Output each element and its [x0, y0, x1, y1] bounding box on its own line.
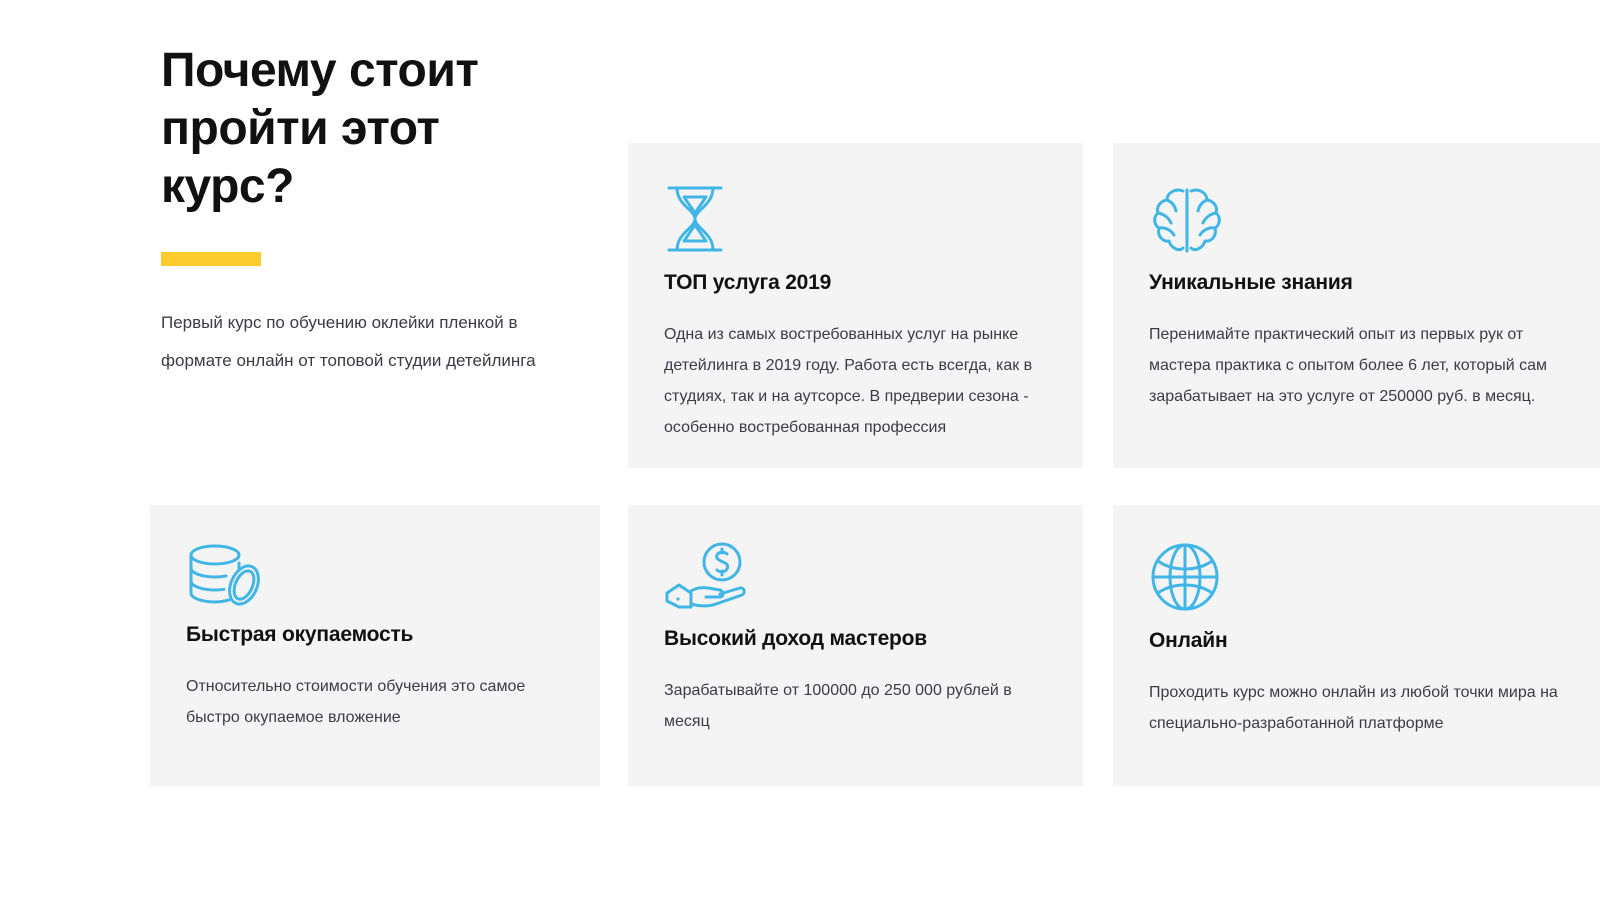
card-description: Перенимайте практический опыт из первых …	[1149, 319, 1570, 412]
card-description: Одна из самых востребованных услуг на ры…	[664, 319, 1047, 443]
card-description: Зарабатывайте от 100000 до 250 000 рубле…	[664, 675, 1047, 737]
globe-icon	[1149, 541, 1570, 613]
benefit-card-high-income: Высокий доход мастеров Зарабатывайте от …	[628, 505, 1083, 786]
hand-with-coin-icon	[664, 541, 1047, 611]
hourglass-icon	[664, 183, 1047, 255]
card-title: Высокий доход мастеров	[664, 625, 1047, 653]
intro-block: Почему стоит пройти этот курс? Первый ку…	[161, 42, 581, 397]
benefit-card-unique-knowledge: Уникальные знания Перенимайте практическ…	[1113, 143, 1600, 468]
intro-description: Первый курс по обучению оклейки пленкой …	[161, 304, 561, 380]
card-title: Онлайн	[1149, 627, 1570, 655]
card-description: Относительно стоимости обучения это само…	[186, 671, 564, 733]
card-title: ТОП услуга 2019	[664, 269, 1047, 297]
card-title: Быстрая окупаемость	[186, 621, 564, 649]
benefit-card-online: Онлайн Проходить курс можно онлайн из лю…	[1113, 505, 1600, 786]
benefit-card-top-service: ТОП услуга 2019 Одна из самых востребова…	[628, 143, 1083, 468]
brain-icon	[1149, 185, 1570, 255]
coins-icon	[186, 541, 564, 607]
benefit-card-fast-payback: Быстрая окупаемость Относительно стоимос…	[150, 505, 600, 786]
benefits-section: Почему стоит пройти этот курс? Первый ку…	[0, 0, 1600, 900]
card-description: Проходить курс можно онлайн из любой точ…	[1149, 677, 1570, 739]
card-title: Уникальные знания	[1149, 269, 1570, 297]
page-title: Почему стоит пройти этот курс?	[161, 42, 541, 216]
accent-underline	[161, 252, 261, 266]
